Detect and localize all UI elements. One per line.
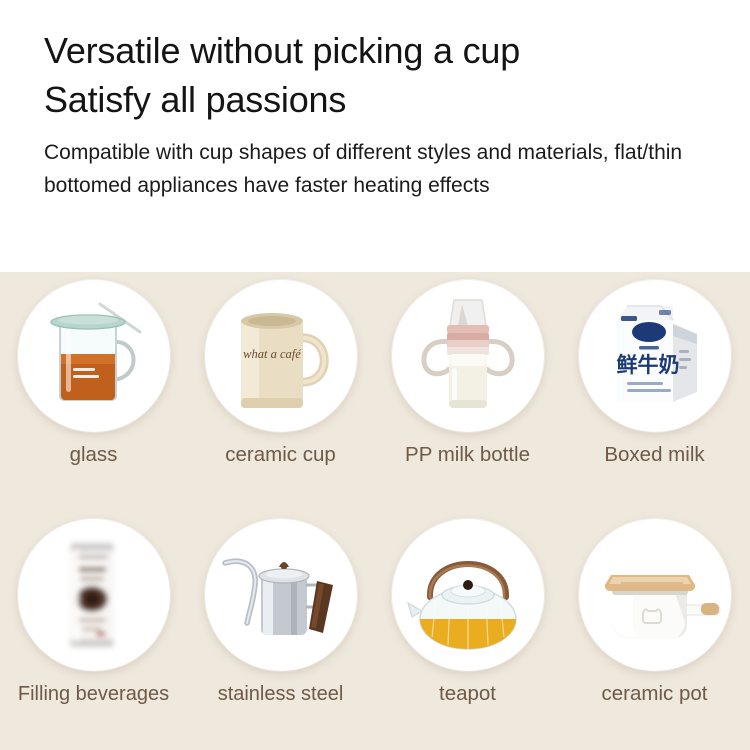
product-compatibility-page: Versatile without picking a cup Satisfy … — [0, 0, 750, 750]
item-label: stainless steel — [187, 681, 374, 707]
item-label: teapot — [374, 681, 561, 707]
grid-item-glass[interactable]: glass — [0, 272, 187, 511]
headline-line-2: Satisfy all passions — [44, 75, 710, 124]
carton-printed-text: 鲜牛奶 — [616, 353, 679, 377]
circle-frame — [205, 519, 357, 671]
header-section: Versatile without picking a cup Satisfy … — [0, 0, 750, 272]
item-label: ceramic cup — [187, 442, 374, 468]
circle-frame — [18, 280, 170, 432]
item-label: glass — [0, 442, 187, 468]
item-label: Filling beverages — [0, 681, 187, 707]
item-label: ceramic pot — [561, 681, 748, 707]
circle-frame — [392, 519, 544, 671]
beverage-can-icon — [18, 519, 170, 671]
grid-item-filling-beverages[interactable]: Filling beverages — [0, 511, 187, 750]
headline-line-1: Versatile without picking a cup — [44, 26, 710, 75]
circle-frame — [579, 519, 731, 671]
circle-frame: what a café — [205, 280, 357, 432]
grid-item-stainless-steel[interactable]: stainless steel — [187, 511, 374, 750]
glass-teapot-icon — [392, 519, 544, 671]
item-label: Boxed milk — [561, 442, 748, 468]
glass-mug-icon — [18, 280, 170, 432]
ceramic-milk-pot-icon — [579, 519, 731, 671]
circle-frame: 鲜牛奶 — [579, 280, 731, 432]
grid-item-boxed-milk[interactable]: 鲜牛奶 Boxed milk — [561, 272, 748, 511]
baby-bottle-icon — [392, 280, 544, 432]
grid-item-teapot[interactable]: teapot — [374, 511, 561, 750]
item-label: PP milk bottle — [374, 442, 561, 468]
circle-frame — [392, 280, 544, 432]
subheading-text: Compatible with cup shapes of different … — [44, 136, 684, 202]
grid-item-ceramic-cup[interactable]: what a café ceramic cup — [187, 272, 374, 511]
mug-printed-text: what a café — [243, 347, 301, 361]
grid-row-1: glass what a café ceramic c — [0, 272, 750, 511]
grid-row-2: Filling beverages — [0, 511, 750, 750]
circle-frame — [18, 519, 170, 671]
grid-item-ceramic-pot[interactable]: ceramic pot — [561, 511, 748, 750]
gooseneck-kettle-icon — [205, 519, 357, 671]
milk-carton-icon: 鲜牛奶 — [579, 280, 731, 432]
grid-item-pp-milk-bottle[interactable]: PP milk bottle — [374, 272, 561, 511]
ceramic-mug-icon: what a café — [205, 280, 357, 432]
compatibility-grid: glass what a café ceramic c — [0, 272, 750, 750]
